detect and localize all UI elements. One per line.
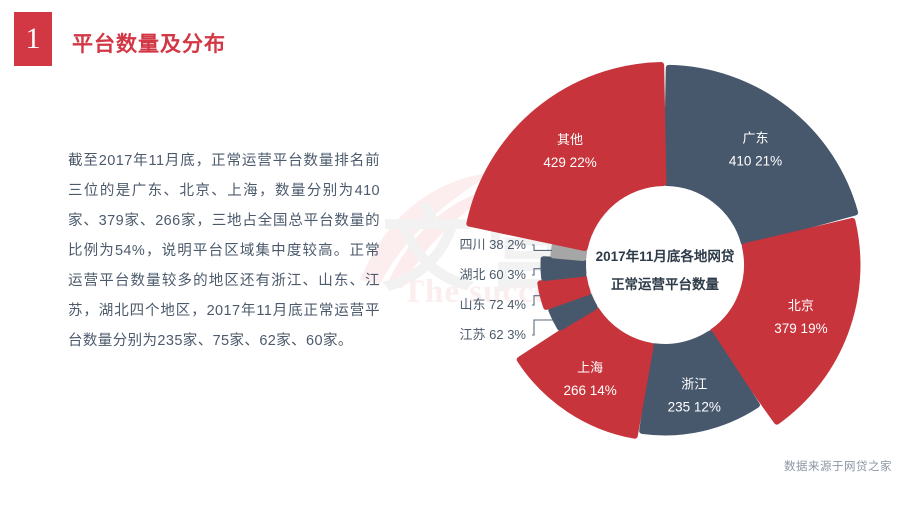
callout-line-江苏 [532, 320, 553, 335]
platform-distribution-rose-chart: 四川 38 2%湖北 60 3%山东 72 4%江苏 62 3% 2017年11… [430, 32, 900, 442]
callout-label-江苏: 江苏 62 3% [460, 327, 527, 342]
section-number: 1 [26, 24, 41, 54]
callout-label-湖北: 湖北 60 3% [460, 267, 527, 282]
pie-slice-湖北[interactable] [543, 259, 583, 278]
donut-hole [587, 187, 743, 343]
callout-line-湖北 [532, 269, 541, 275]
callout-line-山东 [532, 296, 541, 305]
section-number-badge: 1 [14, 12, 52, 66]
callout-label-山东: 山东 72 4% [460, 297, 527, 312]
callout-line-四川 [532, 245, 552, 250]
center-title-line1: 2017年11月底各地网贷 [596, 248, 735, 264]
callout-label-四川: 四川 38 2% [460, 237, 527, 252]
body-paragraph: 截至2017年11月底，正常运营平台数量排名前三位的是广东、北京、上海，数量分别… [68, 146, 380, 356]
source-note: 数据来源于网贷之家 [784, 458, 892, 474]
slide-canvas: 1 平台数量及分布 文营销 The success you deserve 截至… [0, 0, 916, 516]
chart-svg: 四川 38 2%湖北 60 3%山东 72 4%江苏 62 3% 2017年11… [430, 32, 900, 442]
page-title: 平台数量及分布 [72, 28, 226, 58]
center-title-line2: 正常运营平台数量 [611, 276, 719, 292]
